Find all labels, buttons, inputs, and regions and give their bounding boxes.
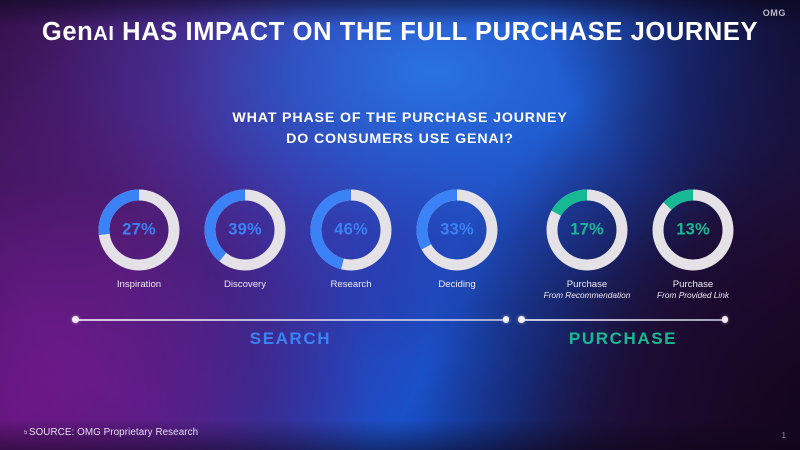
donut-research[interactable]: 46%Research xyxy=(303,188,399,290)
donut-label-purchase-provided-link: Purchase xyxy=(645,279,741,290)
donut-value-research: 46% xyxy=(309,221,393,240)
section-bracket-search xyxy=(72,315,509,325)
donut-value-discovery: 39% xyxy=(203,221,287,240)
donut-label-deciding: Deciding xyxy=(409,279,505,290)
section-label-purchase: PURCHASE xyxy=(518,329,728,349)
section-bracket-dot-left xyxy=(72,316,79,323)
donut-label-research: Research xyxy=(303,279,399,290)
donut-ring-discovery: 39% xyxy=(203,188,287,272)
donut-purchase-recommendation[interactable]: 17%PurchaseFrom Recommendation xyxy=(539,188,635,300)
source-marker: 5 xyxy=(24,430,27,436)
source-text: SOURCE: OMG Proprietary Research xyxy=(29,427,198,438)
section-bracket-dot-left xyxy=(518,316,525,323)
section-bracket-purchase xyxy=(518,315,728,325)
donut-ring-research: 46% xyxy=(309,188,393,272)
section-bracket-bar xyxy=(521,319,725,321)
source-note: 5SOURCE: OMG Proprietary Research xyxy=(24,427,198,438)
section-bracket-dot-right xyxy=(722,316,729,323)
donut-ring-purchase-provided-link: 13% xyxy=(651,188,735,272)
page-title-rest: HAS IMPACT ON THE FULL PURCHASE JOURNEY xyxy=(115,18,759,46)
subtitle-line-2: DO CONSUMERS USE GENAI? xyxy=(0,129,800,150)
donut-ring-inspiration: 27% xyxy=(97,188,181,272)
subtitle-line-1: WHAT PHASE OF THE PURCHASE JOURNEY xyxy=(0,108,800,129)
page-title: GenAI HAS IMPACT ON THE FULL PURCHASE JO… xyxy=(0,18,800,47)
page-title-smallcaps: AI xyxy=(93,23,114,45)
page-title-lead: Gen xyxy=(42,18,93,46)
donut-value-purchase-recommendation: 17% xyxy=(545,221,629,240)
omg-logo: OMG xyxy=(763,8,786,18)
section-bracket-bar xyxy=(75,319,506,321)
donut-deciding[interactable]: 33%Deciding xyxy=(409,188,505,290)
donut-label-inspiration: Inspiration xyxy=(91,279,187,290)
page-subtitle: WHAT PHASE OF THE PURCHASE JOURNEY DO CO… xyxy=(0,108,800,150)
donut-discovery[interactable]: 39%Discovery xyxy=(197,188,293,290)
donut-purchase-provided-link[interactable]: 13%PurchaseFrom Provided Link xyxy=(645,188,741,300)
donut-sublabel-purchase-provided-link: From Provided Link xyxy=(645,290,741,300)
donut-value-purchase-provided-link: 13% xyxy=(651,221,735,240)
donut-ring-deciding: 33% xyxy=(415,188,499,272)
donut-ring-purchase-recommendation: 17% xyxy=(545,188,629,272)
donut-inspiration[interactable]: 27%Inspiration xyxy=(91,188,187,290)
page-number: 1 xyxy=(782,431,786,440)
section-bracket-dot-right xyxy=(503,316,510,323)
section-label-search: SEARCH xyxy=(72,329,509,349)
donut-label-purchase-recommendation: Purchase xyxy=(539,279,635,290)
donut-sublabel-purchase-recommendation: From Recommendation xyxy=(539,290,635,300)
slide-canvas: OMG GenAI HAS IMPACT ON THE FULL PURCHAS… xyxy=(0,0,800,450)
donut-chart-row: 27%Inspiration39%Discovery46%Research33%… xyxy=(0,188,800,313)
donut-value-deciding: 33% xyxy=(415,221,499,240)
donut-value-inspiration: 27% xyxy=(97,221,181,240)
donut-label-discovery: Discovery xyxy=(197,279,293,290)
